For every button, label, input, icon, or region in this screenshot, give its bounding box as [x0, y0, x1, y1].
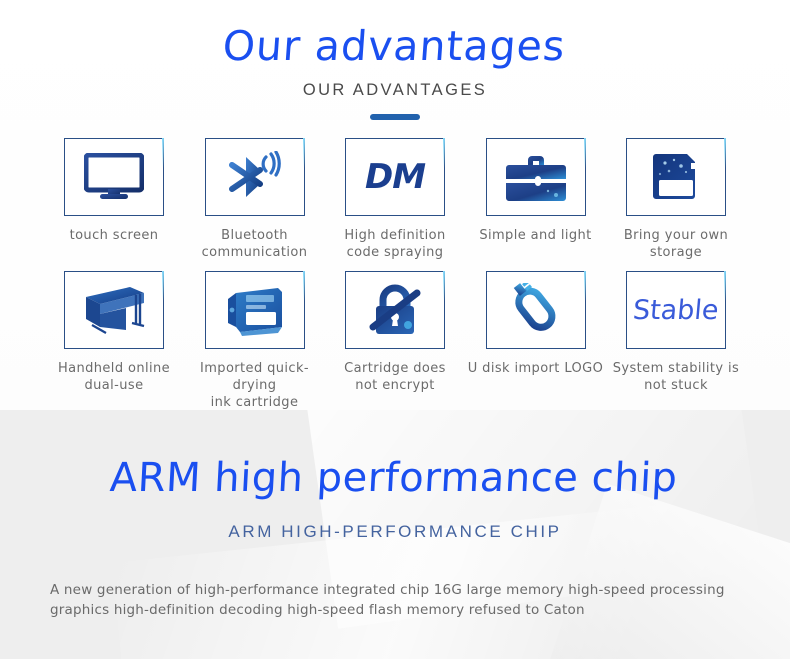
ink-cartridge-icon [220, 283, 290, 337]
icon-frame: DM [345, 138, 445, 216]
advantage-item[interactable]: Handheld online dual-use [46, 271, 182, 410]
advantage-item[interactable]: Cartridge does not encrypt [327, 271, 463, 410]
advantage-label: Bring your own storage [624, 227, 728, 261]
icon-frame [486, 138, 586, 216]
icon-frame: Stable [626, 271, 726, 349]
bluetooth-icon [224, 151, 286, 203]
briefcase-icon [504, 151, 568, 203]
monitor-icon [84, 153, 144, 201]
advantages-grid: touch screen [0, 138, 790, 410]
arm-chip-section: ARM high performance chip ARM HIGH-PERFO… [0, 410, 790, 659]
promo-page: Our advantages OUR ADVANTAGES [0, 0, 790, 659]
memory-card-icon [649, 150, 703, 204]
icon-frame [205, 138, 305, 216]
advantage-label: Imported quick-drying ink cartridge [187, 360, 323, 410]
arm-title: ARM high performance chip [0, 410, 790, 498]
icon-frame [626, 138, 726, 216]
title-underline-bar [370, 114, 420, 120]
advantage-label: Simple and light [479, 227, 591, 244]
icon-frame [64, 138, 164, 216]
advantage-label: U disk import LOGO [468, 360, 604, 377]
advantage-item[interactable]: Stable System stability is not stuck [608, 271, 744, 410]
advantage-item[interactable]: DM High definition code spraying [327, 138, 463, 261]
unlocked-padlock-icon [367, 283, 423, 337]
arm-subtitle: ARM HIGH-PERFORMANCE CHIP [0, 522, 790, 542]
icon-frame [205, 271, 305, 349]
advantage-item[interactable]: Simple and light [468, 138, 604, 261]
stable-text-icon: Stable [632, 297, 720, 324]
advantage-label: High definition code spraying [344, 227, 445, 261]
advantage-item[interactable]: U disk import LOGO [468, 271, 604, 410]
arm-content: ARM high performance chip ARM HIGH-PERFO… [0, 410, 790, 620]
dm-logo-icon: DM [365, 160, 425, 194]
advantage-item[interactable]: Imported quick-drying ink cartridge [187, 271, 323, 410]
advantage-item[interactable]: touch screen [46, 138, 182, 261]
advantages-row: touch screen [0, 138, 790, 261]
advantage-label: Bluetooth communication [202, 227, 308, 261]
advantage-label: touch screen [70, 227, 159, 244]
advantage-label: Cartridge does not encrypt [344, 360, 446, 394]
advantage-label: Handheld online dual-use [58, 360, 170, 394]
advantage-item[interactable]: Bluetooth communication [187, 138, 323, 261]
advantages-section: Our advantages OUR ADVANTAGES [0, 0, 790, 410]
advantage-item[interactable]: Bring your own storage [608, 138, 744, 261]
usb-drive-icon [510, 283, 562, 337]
handheld-printer-icon [78, 283, 150, 337]
advantages-subtitle: OUR ADVANTAGES [0, 81, 790, 100]
advantage-label: System stability is not stuck [613, 360, 739, 394]
icon-frame [64, 271, 164, 349]
icon-frame [345, 271, 445, 349]
arm-description: A new generation of high-performance int… [50, 580, 740, 620]
advantages-title: Our advantages [0, 0, 790, 67]
icon-frame [486, 271, 586, 349]
advantages-row: Handheld online dual-use [0, 271, 790, 410]
